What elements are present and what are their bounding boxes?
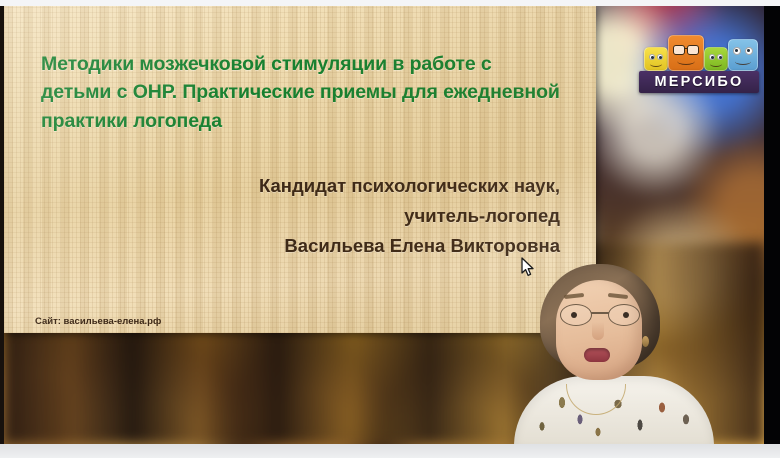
pupil-right bbox=[623, 312, 629, 318]
presenter-webcam-figure bbox=[520, 264, 710, 444]
yellow-face-icon bbox=[644, 47, 668, 71]
bottom-letterbox-strip bbox=[0, 444, 780, 458]
mouth-icon bbox=[710, 61, 722, 67]
presenter-mouth bbox=[584, 348, 610, 362]
right-pillarbox bbox=[764, 6, 780, 444]
presenter-nose bbox=[592, 322, 604, 340]
eye-right-icon bbox=[657, 54, 663, 60]
glasses-icon bbox=[673, 45, 699, 53]
eye-left-icon bbox=[733, 47, 741, 55]
presenter-glasses-icon bbox=[556, 304, 644, 324]
slide-title: Методики мозжечковой стимуляции в работе… bbox=[41, 50, 561, 135]
mersibo-logo: МЕРСИБО bbox=[638, 29, 760, 95]
subtitle-line-1: Кандидат психологических наук, bbox=[124, 171, 560, 201]
slide-subtitle: Кандидат психологических наук, учитель-л… bbox=[124, 171, 560, 261]
pupil-left bbox=[571, 312, 577, 318]
video-stage[interactable]: Методики мозжечковой стимуляции в работе… bbox=[4, 6, 764, 444]
green-face-icon bbox=[704, 47, 728, 71]
mouth-icon bbox=[650, 61, 662, 67]
lens-right-icon bbox=[687, 45, 699, 55]
orange-face-icon bbox=[668, 35, 704, 71]
presentation-slide[interactable]: Методики мозжечковой стимуляции в работе… bbox=[4, 6, 596, 333]
presenter-earring bbox=[642, 336, 649, 347]
slide-site-note: Сайт: васильева-елена.рф bbox=[35, 316, 161, 327]
blue-face-icon bbox=[728, 39, 758, 71]
eye-right-icon bbox=[745, 47, 753, 55]
lens-left-icon bbox=[673, 45, 685, 55]
eye-right-icon bbox=[717, 54, 723, 60]
eye-left-icon bbox=[649, 54, 655, 60]
eye-left-icon bbox=[709, 54, 715, 60]
glasses-bridge-icon bbox=[591, 312, 609, 314]
subtitle-line-3: Васильева Елена Викторовна bbox=[124, 231, 560, 261]
video-player[interactable]: Методики мозжечковой стимуляции в работе… bbox=[0, 0, 780, 458]
mersibo-wordmark: МЕРСИБО bbox=[639, 71, 759, 93]
mouse-pointer-icon bbox=[521, 257, 535, 277]
subtitle-line-2: учитель-логопед bbox=[124, 201, 560, 231]
logo-face-group bbox=[638, 29, 760, 71]
mouth-icon bbox=[677, 57, 695, 65]
mouth-icon bbox=[735, 58, 751, 65]
